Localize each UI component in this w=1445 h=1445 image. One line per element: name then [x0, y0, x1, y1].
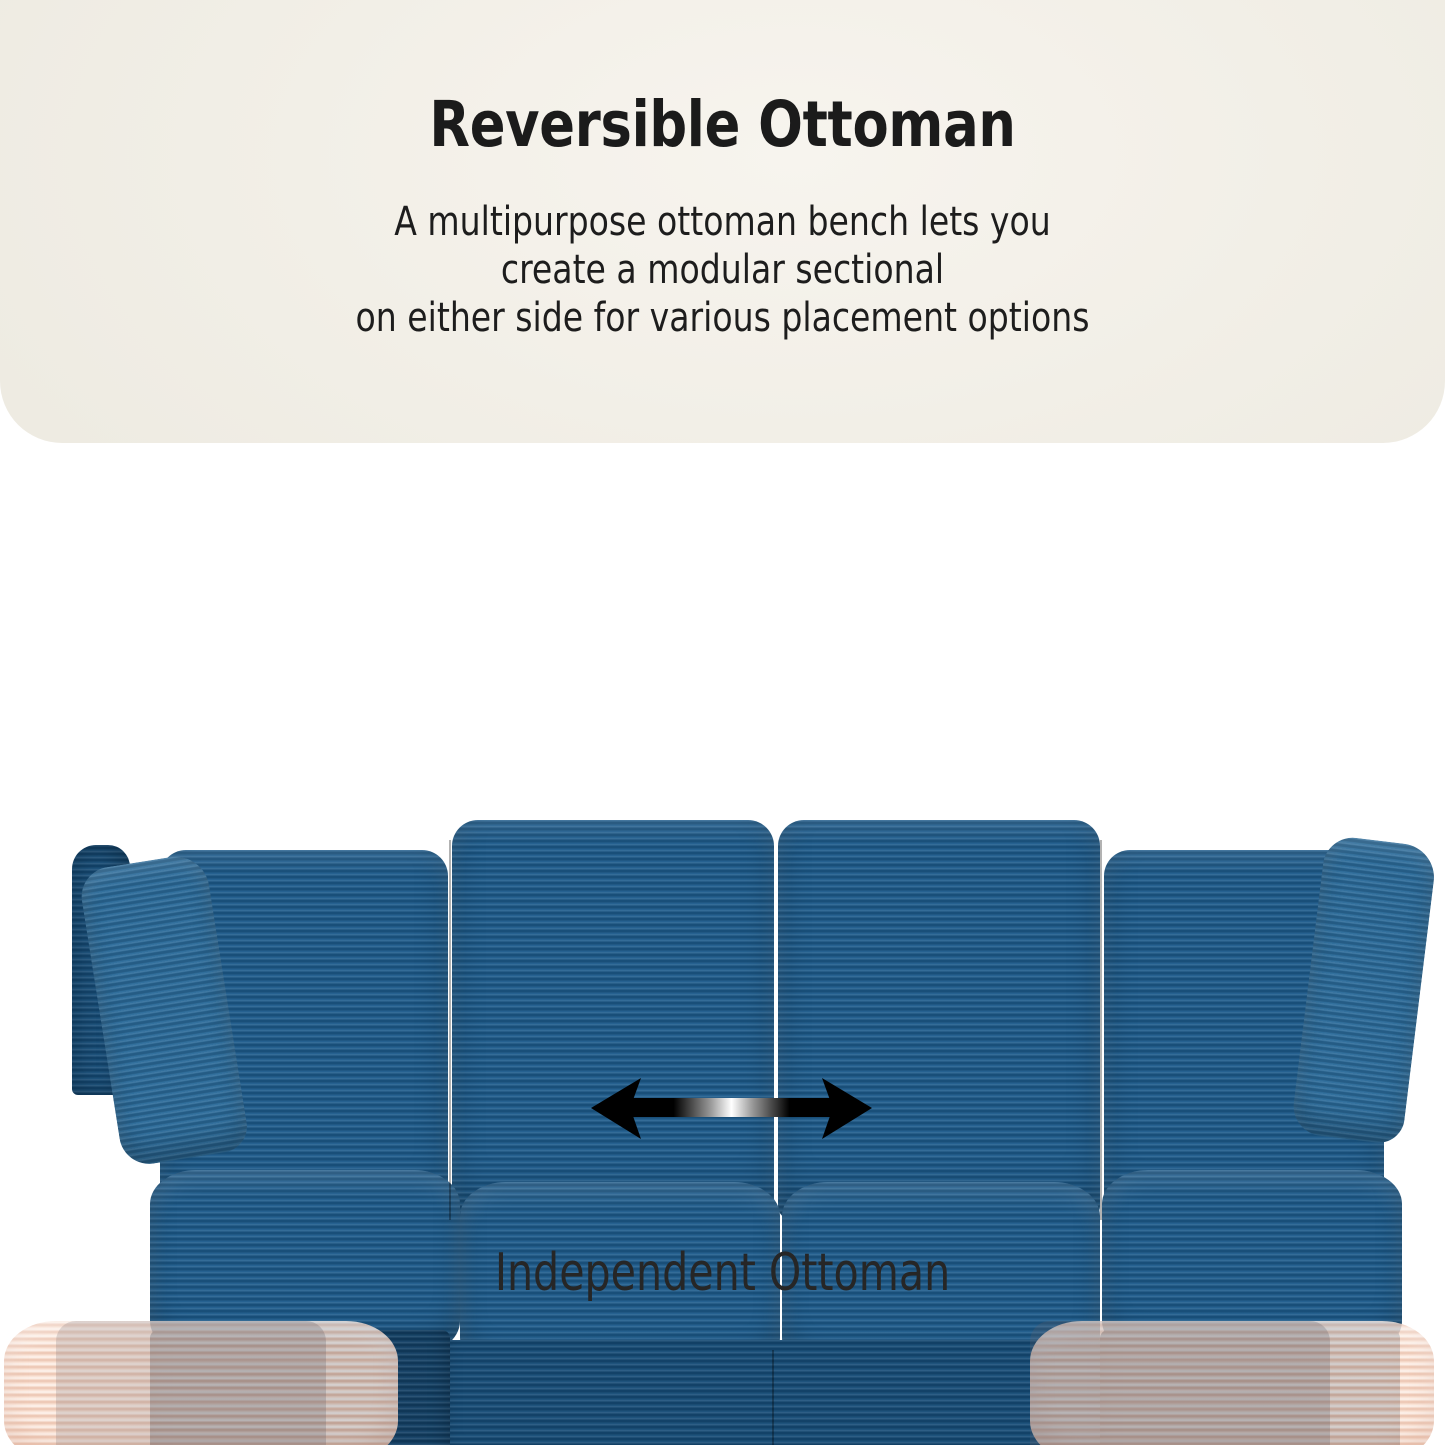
subtitle-line-2: create a modular sectional	[58, 246, 1387, 294]
caption-label: Independent Ottoman	[87, 1243, 1359, 1303]
back-cushion-center-2	[778, 820, 1100, 1220]
subtitle-line-3: on either side for various placement opt…	[58, 294, 1387, 342]
product-feature-card: Reversible Ottoman A multipurpose ottoma…	[0, 0, 1445, 1445]
header-panel: Reversible Ottoman A multipurpose ottoma…	[0, 0, 1445, 443]
page-title: Reversible Ottoman	[51, 88, 1395, 161]
right-ottoman-cushion	[1030, 1321, 1434, 1445]
module-seam-center	[772, 1350, 774, 1445]
reversible-direction-arrow	[583, 1070, 880, 1148]
header-subtitle: A multipurpose ottoman bench lets you cr…	[58, 198, 1387, 342]
left-ottoman-cushion	[4, 1321, 398, 1445]
sofa-front-rail	[440, 1340, 1110, 1445]
module-seam-left	[449, 840, 451, 1220]
subtitle-line-1: A multipurpose ottoman bench lets you	[58, 198, 1387, 246]
back-cushion-center-1	[452, 820, 774, 1220]
module-seam-right	[1100, 840, 1102, 1220]
